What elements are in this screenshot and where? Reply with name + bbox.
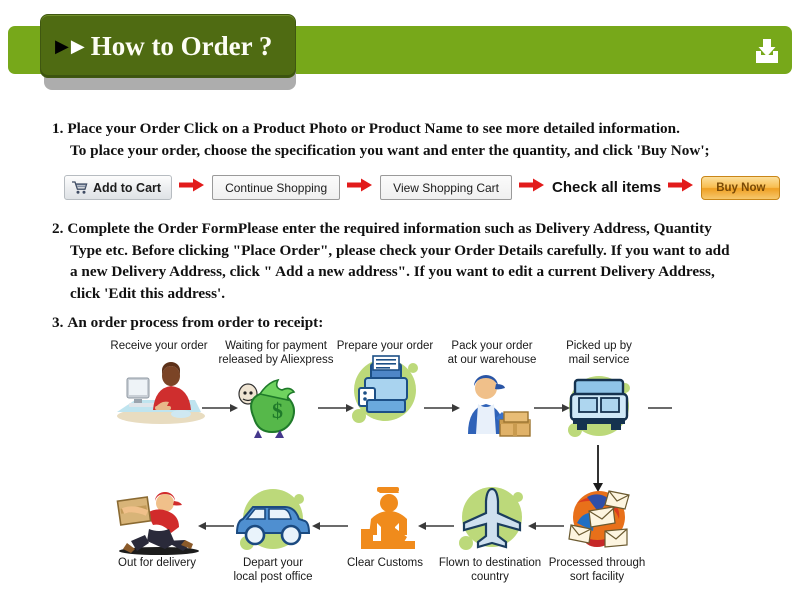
flow-node-label: Prepare your order xyxy=(330,340,440,354)
flow-node-receive-order: Receive your order xyxy=(100,340,218,426)
van-icon xyxy=(223,485,323,557)
flow-node-label: Processed through sort facility xyxy=(538,557,656,585)
add-to-cart-label: Add to Cart xyxy=(93,181,161,195)
flow-arrow-left-icon xyxy=(418,518,454,536)
flow-arrow-right-icon xyxy=(648,400,674,418)
flow-arrow-right-icon xyxy=(534,400,570,418)
view-shopping-cart-label: View Shopping Cart xyxy=(393,181,499,195)
buy-now-label: Buy Now xyxy=(716,182,765,194)
red-arrow-icon xyxy=(519,178,545,197)
continue-shopping-button[interactable]: Continue Shopping xyxy=(212,175,340,200)
page-title: How to Order ? xyxy=(91,31,273,62)
flow-node-label: Out for delivery xyxy=(98,557,216,571)
svg-text:$: $ xyxy=(272,398,283,423)
delivery-courier-icon xyxy=(107,485,207,557)
flow-node-picked-up-mail: Picked up by mail service xyxy=(544,340,654,440)
flow-arrow-right-icon xyxy=(202,400,238,418)
continue-shopping-label: Continue Shopping xyxy=(225,181,327,195)
step-1-line-1: Place your Order Click on a Product Phot… xyxy=(67,120,679,137)
flow-node-label: Waiting for payment released by Aliexpre… xyxy=(212,340,340,368)
step-3-line-1: An order process from order to receipt: xyxy=(67,314,323,331)
add-to-cart-button[interactable]: Add to Cart xyxy=(64,175,172,200)
money-bag-icon: $ xyxy=(226,368,326,440)
flow-arrow-left-icon xyxy=(198,518,234,536)
step-1-line-2: To place your order, choose the specific… xyxy=(70,142,710,159)
flow-node-pack-order: Pack your order at our warehouse xyxy=(432,340,552,440)
step-1-text: 1.Place your Order Click on a Product Ph… xyxy=(52,118,792,161)
flow-node-label: Clear Customs xyxy=(330,557,440,571)
shopping-cart-icon xyxy=(71,180,88,195)
flow-arrow-left-icon xyxy=(528,518,564,536)
play-arrow-icon: ▶▶ xyxy=(55,37,87,55)
red-arrow-icon xyxy=(179,178,205,197)
flow-node-label: Flown to destination country xyxy=(428,557,552,585)
airplane-icon xyxy=(440,485,540,557)
step-2-line-1: Complete the Order FormPlease enter the … xyxy=(67,220,711,237)
flow-node-label: Depart your local post office xyxy=(214,557,332,585)
flow-node-label: Receive your order xyxy=(100,340,218,354)
order-process-flow-diagram: Receive your order Waiting for payment r… xyxy=(0,340,800,590)
order-button-row: Add to Cart Continue Shopping View Shopp… xyxy=(64,175,780,200)
step-2-line-4: click 'Edit this address'. xyxy=(70,285,225,302)
flow-node-label: Picked up by mail service xyxy=(544,340,654,368)
flow-arrow-right-icon xyxy=(424,400,460,418)
red-arrow-icon xyxy=(347,178,373,197)
buy-now-button[interactable]: Buy Now xyxy=(701,176,780,200)
flow-node-label: Pack your order at our warehouse xyxy=(432,340,552,368)
flow-node-waiting-payment: Waiting for payment released by Aliexpre… xyxy=(212,340,340,440)
step-3-text: 3.An order process from order to receipt… xyxy=(52,312,552,334)
step-2-number: 2. xyxy=(52,220,63,237)
view-shopping-cart-button[interactable]: View Shopping Cart xyxy=(380,175,512,200)
step-2-text: 2.Complete the Order FormPlease enter th… xyxy=(52,218,792,304)
flow-arrow-left-icon xyxy=(312,518,348,536)
step-1-number: 1. xyxy=(52,120,63,137)
step-3-number: 3. xyxy=(52,314,63,331)
header-title-box: ▶▶ How to Order ? xyxy=(40,14,296,78)
person-at-computer-icon xyxy=(109,354,209,426)
step-2-line-2: Type etc. Before clicking "Place Order",… xyxy=(70,242,730,259)
page-header: ▶▶ How to Order ? xyxy=(0,8,800,86)
flow-arrow-right-icon xyxy=(318,400,354,418)
check-all-items-label: Check all items xyxy=(552,179,661,196)
download-icon[interactable] xyxy=(752,36,782,66)
red-arrow-icon xyxy=(668,178,694,197)
step-2-line-3: a new Delivery Address, click " Add a ne… xyxy=(70,263,715,280)
